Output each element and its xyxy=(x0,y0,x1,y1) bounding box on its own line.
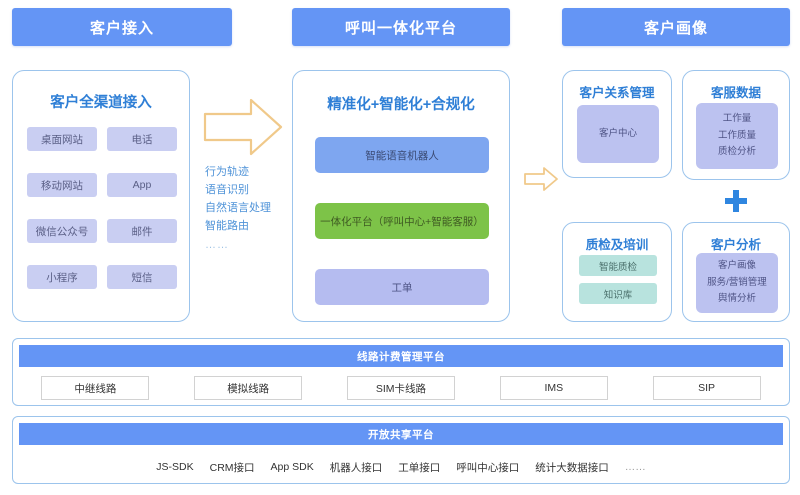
card-crm: 客户关系管理 客户中心 xyxy=(562,70,672,178)
open-platform-row: JS-SDK CRM接口 App SDK 机器人接口 工单接口 呼叫中心接口 统… xyxy=(19,455,783,479)
card-integrated-platform: 精准化+智能化+合规化 智能语音机器人 一体化平台（呼叫中心+智能客服） 工单 xyxy=(292,70,510,322)
service-data-item: 质检分析 xyxy=(718,144,756,161)
channel-chip[interactable]: 微信公众号 xyxy=(27,219,97,243)
header-customer-profile: 客户画像 xyxy=(562,8,790,46)
quality-item[interactable]: 知识库 xyxy=(579,283,657,304)
line-platform-row: 中继线路 模拟线路 SIM卡线路 IMS SIP xyxy=(19,375,783,401)
card-customer-analysis: 客户分析 客户画像 服务/营销管理 舆情分析 xyxy=(682,222,790,322)
api-item[interactable]: 统计大数据接口 xyxy=(535,460,609,475)
line-item[interactable]: IMS xyxy=(500,376,608,400)
platform-box-integrated-suite[interactable]: 一体化平台（呼叫中心+智能客服） xyxy=(315,203,489,239)
api-item[interactable]: 工单接口 xyxy=(398,460,440,475)
channel-chip[interactable]: 电话 xyxy=(107,127,177,151)
api-item[interactable]: JS-SDK xyxy=(156,461,193,473)
panel-line-billing-platform: 线路计费管理平台 中继线路 模拟线路 SIM卡线路 IMS SIP xyxy=(12,338,790,406)
crm-item: 客户中心 xyxy=(599,126,637,143)
platform-box-ticket[interactable]: 工单 xyxy=(315,269,489,305)
header-call-platform: 呼叫一体化平台 xyxy=(292,8,510,46)
api-item[interactable]: 机器人接口 xyxy=(330,460,383,475)
open-platform-title: 开放共享平台 xyxy=(19,423,783,445)
crm-item-box[interactable]: 客户中心 xyxy=(577,105,659,163)
capability-list: 行为轨迹 语音识别 自然语言处理 智能路由 …… xyxy=(205,163,289,254)
customer-analysis-box[interactable]: 客户画像 服务/营销管理 舆情分析 xyxy=(696,253,778,313)
plus-icon xyxy=(723,188,749,214)
right-arrow-icon xyxy=(524,166,558,192)
card-title-omnichannel: 客户全渠道接入 xyxy=(13,91,189,112)
customer-analysis-item: 客户画像 xyxy=(718,258,756,275)
api-item[interactable]: 呼叫中心接口 xyxy=(456,460,519,475)
channel-chip[interactable]: 短信 xyxy=(107,265,177,289)
line-item[interactable]: SIM卡线路 xyxy=(347,376,455,400)
line-item[interactable]: 中继线路 xyxy=(41,376,149,400)
card-title-customer-analysis: 客户分析 xyxy=(683,234,789,253)
channel-chip[interactable]: 移动网站 xyxy=(27,173,97,197)
capability-item: 行为轨迹 xyxy=(205,163,289,181)
card-title-quality: 质检及培训 xyxy=(563,234,671,253)
line-platform-title: 线路计费管理平台 xyxy=(19,345,783,367)
line-item[interactable]: SIP xyxy=(653,376,761,400)
card-title-service-data: 客服数据 xyxy=(683,82,789,101)
capability-ellipsis: …… xyxy=(205,236,289,254)
header-customer-access: 客户接入 xyxy=(12,8,232,46)
customer-analysis-item: 服务/营销管理 xyxy=(707,275,767,292)
customer-analysis-item: 舆情分析 xyxy=(718,291,756,308)
api-item[interactable]: CRM接口 xyxy=(210,460,255,475)
quality-item[interactable]: 智能质检 xyxy=(579,255,657,276)
panel-open-platform: 开放共享平台 JS-SDK CRM接口 App SDK 机器人接口 工单接口 呼… xyxy=(12,416,790,484)
card-omnichannel-access: 客户全渠道接入 桌面网站 电话 移动网站 App 微信公众号 邮件 小程序 短信 xyxy=(12,70,190,322)
service-data-box[interactable]: 工作量 工作质量 质检分析 xyxy=(696,103,778,169)
capability-item: 智能路由 xyxy=(205,217,289,235)
channel-chip[interactable]: 邮件 xyxy=(107,219,177,243)
channel-chip[interactable]: 桌面网站 xyxy=(27,127,97,151)
card-title-crm: 客户关系管理 xyxy=(563,82,671,101)
channel-chip[interactable]: App xyxy=(107,173,177,197)
right-arrow-icon xyxy=(203,96,283,158)
line-item[interactable]: 模拟线路 xyxy=(194,376,302,400)
diagram-canvas: 客户接入 呼叫一体化平台 客户画像 客户全渠道接入 桌面网站 电话 移动网站 A… xyxy=(0,0,800,495)
card-service-data: 客服数据 工作量 工作质量 质检分析 xyxy=(682,70,790,180)
service-data-item: 工作量 xyxy=(723,111,752,128)
service-data-item: 工作质量 xyxy=(718,128,756,145)
card-title-integrated: 精准化+智能化+合规化 xyxy=(293,93,509,114)
card-quality-training: 质检及培训 智能质检 知识库 xyxy=(562,222,672,322)
platform-box-voice-robot[interactable]: 智能语音机器人 xyxy=(315,137,489,173)
capability-item: 语音识别 xyxy=(205,181,289,199)
channel-chip[interactable]: 小程序 xyxy=(27,265,97,289)
api-item[interactable]: App SDK xyxy=(271,461,314,473)
api-ellipsis: …… xyxy=(625,461,646,473)
capability-item: 自然语言处理 xyxy=(205,199,289,217)
